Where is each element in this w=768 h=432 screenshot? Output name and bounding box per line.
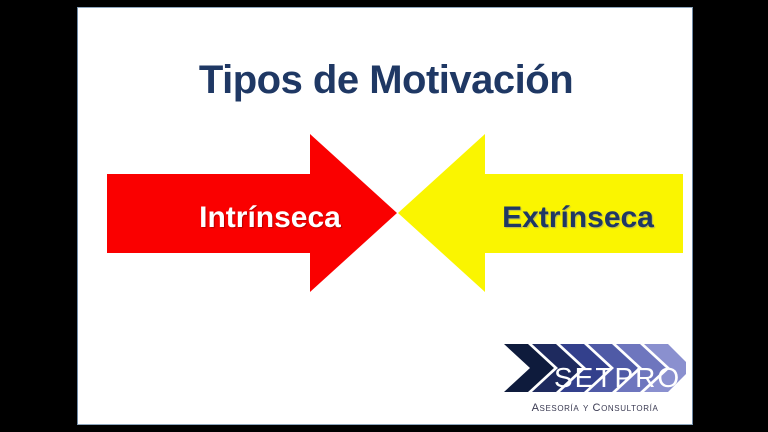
logo-wordmark: SETPRO <box>554 364 681 392</box>
arrow-label-extrinseca: Extrínseca <box>448 203 693 233</box>
screenshot-stage: Tipos de Motivación Intrínseca Extrínsec… <box>0 0 768 432</box>
logo-tagline: Asesoría y Consultoría <box>502 402 688 414</box>
setpro-logo: SETPRO Asesoría y Consultoría <box>502 340 688 420</box>
slide-canvas: Tipos de Motivación Intrínseca Extrínsec… <box>77 7 693 425</box>
arrow-label-intrinseca: Intrínseca <box>140 203 400 233</box>
